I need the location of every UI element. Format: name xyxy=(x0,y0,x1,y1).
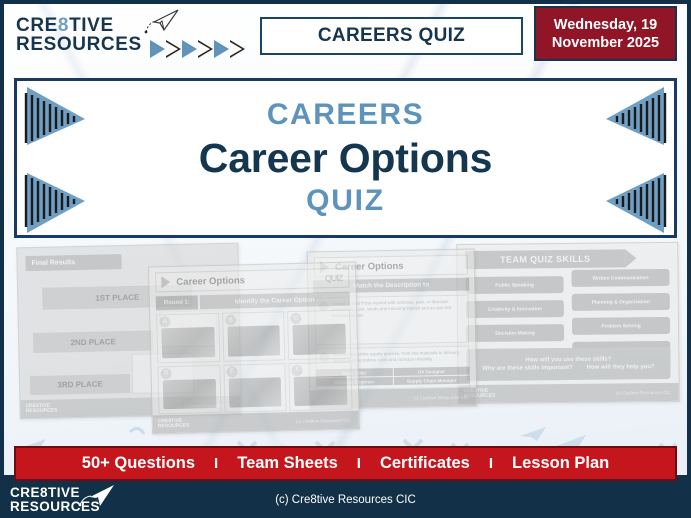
round-footer-copy: (c) Cre8tive Resources CIC xyxy=(296,417,351,423)
preview-thumbnail-strip: Final Results 1ST PLACE 2ND PLACE 3RD PL… xyxy=(0,240,691,445)
brand-logo-post: TIVE xyxy=(69,15,114,36)
round-cell-label: D xyxy=(160,368,171,379)
skills-footer: CRE8TIVE RESOURCES (c) Cre8tive Resource… xyxy=(459,383,679,403)
feature-separator-3: I xyxy=(489,455,493,472)
date-line-1: Wednesday, 19 xyxy=(554,16,657,34)
feature-item-certificates: Certificates xyxy=(380,454,470,473)
feature-separator-2: I xyxy=(357,455,361,472)
feature-item-questions: 50+ Questions xyxy=(82,454,195,473)
round-cell[interactable]: E xyxy=(223,363,287,413)
skill-pill: Creativity & Innovation xyxy=(466,300,564,318)
quiz-category-tag: CAREERS QUIZ xyxy=(260,17,523,55)
round-cell-image xyxy=(161,327,214,358)
thumbnail-team-quiz-skills[interactable]: TEAM QUIZ SKILLS Public Speaking Creativ… xyxy=(456,242,680,404)
triangle-outline-icon-3 xyxy=(230,40,245,58)
skill-pill: Decision Making xyxy=(466,324,564,342)
match-option[interactable]: UX Designer xyxy=(393,367,470,376)
arrow-accent-row xyxy=(150,40,245,58)
footer-paper-plane-icon xyxy=(76,484,116,510)
round-header: Career Options QUIZ xyxy=(155,268,349,293)
round-cell-label: C xyxy=(290,313,301,324)
brand-logo-pre: CRE xyxy=(16,15,58,36)
results-title: Final Results xyxy=(25,254,121,271)
round-cell-label: F xyxy=(292,364,303,375)
match-footer-copy: (c) Cre8tive Resources CIC xyxy=(413,394,468,400)
striped-triangle-left-bottom-icon xyxy=(21,161,93,235)
triangle-outline-icon-2 xyxy=(198,40,213,58)
triangle-outline-icon-1 xyxy=(166,40,181,58)
round-quiz-mark: QUIZ xyxy=(325,273,343,283)
quiz-category-label: CAREERS QUIZ xyxy=(318,25,465,47)
round-cell-image xyxy=(228,377,281,408)
podium-second: 2ND PLACE xyxy=(33,330,153,353)
footer-bar: (c) Cre8tive Resources CIC CRE8TIVE RESO… xyxy=(0,481,691,518)
round-cell-label: A xyxy=(159,316,170,327)
header-bar: CRE8TIVE RESOURCES CAREERS QUIZ Wednesda… xyxy=(0,0,691,72)
date-badge: Wednesday, 19 November 2025 xyxy=(534,6,677,61)
feature-separator-1: I xyxy=(214,455,218,472)
round-cell[interactable]: B xyxy=(222,311,286,361)
skill-pill: Problem Solving xyxy=(572,317,670,335)
feature-item-lesson-plan: Lesson Plan xyxy=(512,454,609,473)
striped-triangle-left-top-icon xyxy=(21,85,93,159)
date-line-2: November 2025 xyxy=(552,34,659,52)
results-footer-logo: CRE8TIVE RESOURCES xyxy=(26,404,58,415)
round-footer-logo-2: RESOURCES xyxy=(158,424,190,430)
round-task-label: Identify the Career Option xyxy=(200,292,350,310)
triangle-filled-icon-1 xyxy=(150,40,165,58)
skills-footer-copy: (c) Cre8tive Resources CIC xyxy=(616,389,671,395)
skills-question-box: How will you use these skills? Why are t… xyxy=(466,347,670,381)
round-number-label: Round 1: xyxy=(156,295,198,310)
round-cell-label: E xyxy=(226,366,237,377)
round-cell[interactable]: C xyxy=(287,310,351,360)
round-cell[interactable]: D xyxy=(157,364,221,414)
skills-question-row-2: Why are these skills important? How will… xyxy=(482,364,654,372)
striped-triangle-right-bottom-icon xyxy=(598,161,670,235)
skills-question-3: How will they help you? xyxy=(587,364,655,371)
title-type: QUIZ xyxy=(306,184,385,218)
feature-item-team-sheets: Team Sheets xyxy=(237,454,338,473)
page-title: Career Options xyxy=(199,133,492,183)
thumbnail-round-one[interactable]: Career Options QUIZ Round 1: Identify th… xyxy=(148,261,360,434)
title-subject: CAREERS xyxy=(267,98,424,132)
skills-question-1: How will you use these skills? xyxy=(525,357,611,364)
brand-logo-eight: 8 xyxy=(58,15,69,36)
round-cell-image xyxy=(227,325,280,356)
round-cell[interactable]: A xyxy=(156,313,220,363)
triangle-filled-icon-2 xyxy=(182,40,197,58)
paper-plane-icon xyxy=(128,6,180,40)
title-text-group: CAREERS Career Options QUIZ xyxy=(107,81,584,235)
match-option[interactable]: Supply Chain Manager xyxy=(393,376,470,385)
skill-pill: Public Speaking xyxy=(466,276,564,294)
round-cell[interactable]: F xyxy=(289,361,353,411)
round-cell-label: B xyxy=(225,314,236,325)
skill-pill: Written Communication xyxy=(571,269,669,287)
skills-header: TEAM QUIZ SKILLS xyxy=(465,249,625,269)
round-cell-image xyxy=(294,375,347,406)
striped-triangle-right-top-icon xyxy=(598,85,670,159)
round-image-grid: A B C D E F xyxy=(156,310,352,415)
title-panel: CAREERS Career Options QUIZ xyxy=(14,78,677,238)
round-cell-image xyxy=(293,324,346,355)
round-footer-logo: CRE8TIVE RESOURCES xyxy=(158,419,190,430)
skill-pill: Planning & Organisation xyxy=(572,293,670,311)
results-footer-logo-2: RESOURCES xyxy=(26,409,58,415)
round-task-bar: Round 1: Identify the Career Option xyxy=(156,292,350,311)
skills-question-2: Why are these skills important? xyxy=(482,365,572,372)
podium-third: 3RD PLACE xyxy=(30,374,130,395)
triangle-filled-icon-3 xyxy=(214,40,229,58)
round-cell-image xyxy=(163,378,216,409)
slide-canvas: CRE8TIVE RESOURCES CAREERS QUIZ Wednesda… xyxy=(0,0,691,518)
skills-column-right: Written Communication Planning & Organis… xyxy=(571,269,670,359)
play-triangle-icon xyxy=(161,276,170,288)
round-header-title: Career Options xyxy=(176,275,245,288)
round-footer: CRE8TIVE RESOURCES (c) Cre8tive Resource… xyxy=(153,410,359,433)
feature-banner: 50+ Questions I Team Sheets I Certificat… xyxy=(14,446,677,481)
